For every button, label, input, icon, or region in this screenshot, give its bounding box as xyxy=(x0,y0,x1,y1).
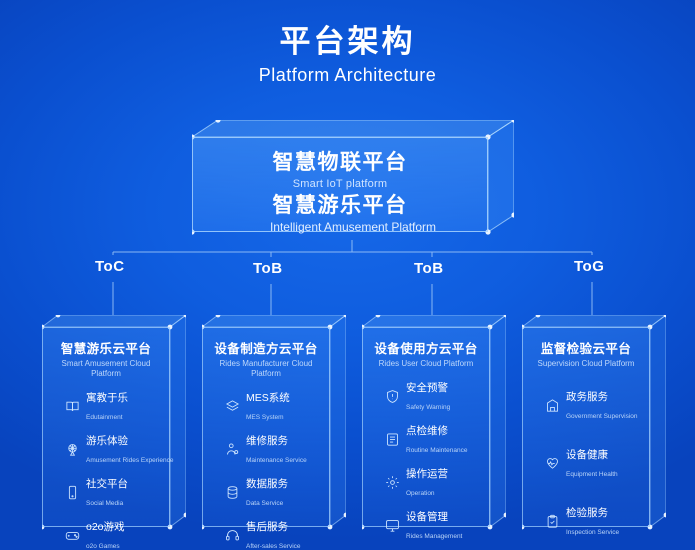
column-items-3: 安全预警 Safety Warning 点检维修 Routine Mainten… xyxy=(368,378,484,550)
branch-label-toc: ToC xyxy=(95,258,125,275)
list-item-text: 售后服务 After-sales Service xyxy=(246,517,301,550)
list-item-text: 寓教于乐 Edutainment xyxy=(86,388,128,424)
item-label-en: Safety Warning xyxy=(406,404,450,411)
list-item-text: o2o游戏 o2o Games xyxy=(86,517,125,550)
list-item-text: MES系统 MES System xyxy=(246,388,290,424)
column-title-en-2: Rides Manufacturer Cloud Platform xyxy=(208,359,324,379)
column-title-en-1: Smart Amusement Cloud Platform xyxy=(48,359,164,379)
item-label-en: Equipment Health xyxy=(566,471,618,478)
heart-pulse-icon xyxy=(544,455,561,472)
item-label-cn: 安全预警 xyxy=(406,382,448,394)
gamepad-icon xyxy=(64,527,81,544)
list-item-text: 政务服务 Government Supervision xyxy=(566,387,638,423)
column-content-2: 设备制造方云平台 Rides Manufacturer Cloud Platfo… xyxy=(202,327,330,527)
item-label-cn: 操作运营 xyxy=(406,468,448,480)
platform-box-text: 智慧物联平台 Smart IoT platform 智慧游乐平台 xyxy=(192,137,488,232)
list-item[interactable]: o2o游戏 o2o Games xyxy=(64,517,125,550)
item-label-en: After-sales Service xyxy=(246,543,301,550)
item-label-cn: 游乐体验 xyxy=(86,435,128,447)
person-gear-icon xyxy=(224,441,241,458)
branch-label-tob-2: ToB xyxy=(414,260,444,277)
list-item[interactable]: 操作运营 Operation xyxy=(384,464,448,500)
item-label-cn: 数据服务 xyxy=(246,478,288,490)
gear-icon xyxy=(384,474,401,491)
item-label-cn: 点检维修 xyxy=(406,425,448,437)
item-label-cn: 寓教于乐 xyxy=(86,392,128,404)
title-english: Platform Architecture xyxy=(0,62,695,88)
item-label-cn: 检验服务 xyxy=(566,507,608,519)
item-label-cn: MES系统 xyxy=(246,392,290,404)
list-item-text: 安全预警 Safety Warning xyxy=(406,378,450,414)
column-title-en-4: Supervision Cloud Platform xyxy=(528,359,644,369)
item-label-en: Data Service xyxy=(246,500,283,507)
mobile-icon xyxy=(64,484,81,501)
list-item-text: 社交平台 Social Media xyxy=(86,474,128,510)
database-icon xyxy=(224,484,241,501)
list-item[interactable]: 点检维修 Routine Maintenance xyxy=(384,421,467,457)
list-item[interactable]: 政务服务 Government Supervision xyxy=(544,387,638,423)
list-item-text: 维修服务 Maintenance Service xyxy=(246,431,307,467)
list-item[interactable]: 售后服务 After-sales Service xyxy=(224,517,301,550)
item-label-en: MES System xyxy=(246,414,284,421)
list-item-text: 设备健康 Equipment Health xyxy=(566,445,618,481)
item-label-cn: o2o游戏 xyxy=(86,521,125,533)
column-rides-user[interactable]: 设备使用方云平台 Rides User Cloud Platform 安全预警 … xyxy=(362,315,506,535)
clipboard-check-icon xyxy=(544,513,561,530)
platform-line1-cn: 智慧物联平台 xyxy=(273,150,408,176)
list-item-text: 数据服务 Data Service xyxy=(246,474,288,510)
item-label-en: Inspection Service xyxy=(566,529,619,536)
list-item[interactable]: 游乐体验 Amusement Rides Experience xyxy=(64,431,173,467)
column-content-4: 监督检验云平台 Supervision Cloud Platform 政务服务 … xyxy=(522,327,650,527)
list-item-text: 设备管理 Rides Management xyxy=(406,507,462,543)
item-label-en: Rides Management xyxy=(406,533,462,540)
item-label-en: Government Supervision xyxy=(566,413,638,420)
branch-label-tog: ToG xyxy=(574,258,604,275)
item-label-en: Amusement Rides Experience xyxy=(86,457,173,464)
list-item[interactable]: 检验服务 Inspection Service xyxy=(544,503,619,539)
layers-icon xyxy=(224,398,241,415)
list-item[interactable]: 设备健康 Equipment Health xyxy=(544,445,618,481)
headset-icon xyxy=(224,527,241,544)
column-title-cn-2: 设备制造方云平台 xyxy=(208,341,324,357)
ferris-wheel-icon xyxy=(64,441,81,458)
item-label-cn: 售后服务 xyxy=(246,521,288,533)
column-smart-amusement[interactable]: 智慧游乐云平台 Smart Amusement Cloud Platform 寓… xyxy=(42,315,186,535)
column-content-3: 设备使用方云平台 Rides User Cloud Platform 安全预警 … xyxy=(362,327,490,527)
platform-line1-en: Smart IoT platform xyxy=(293,176,387,192)
list-item[interactable]: 社交平台 Social Media xyxy=(64,474,128,510)
list-item[interactable]: 维修服务 Maintenance Service xyxy=(224,431,307,467)
list-item[interactable]: 设备管理 Rides Management xyxy=(384,507,462,543)
column-title-en-3: Rides User Cloud Platform xyxy=(368,359,484,369)
item-label-en: Edutainment xyxy=(86,414,123,421)
item-label-cn: 设备管理 xyxy=(406,511,448,523)
column-title-cn-3: 设备使用方云平台 xyxy=(368,341,484,357)
list-item[interactable]: 寓教于乐 Edutainment xyxy=(64,388,128,424)
item-label-cn: 维修服务 xyxy=(246,435,288,447)
item-label-en: o2o Games xyxy=(86,543,120,550)
list-item[interactable]: MES系统 MES System xyxy=(224,388,290,424)
branch-label-tob-1: ToB xyxy=(253,260,283,277)
item-label-cn: 社交平台 xyxy=(86,478,128,490)
title-chinese: 平台架构 xyxy=(0,22,695,62)
item-label-cn: 设备健康 xyxy=(566,449,608,461)
column-title-cn-1: 智慧游乐云平台 xyxy=(48,341,164,357)
shield-alert-icon xyxy=(384,388,401,405)
checklist-icon xyxy=(384,431,401,448)
platform-line2-cn: 智慧游乐平台 xyxy=(273,192,408,220)
column-content-1: 智慧游乐云平台 Smart Amusement Cloud Platform 寓… xyxy=(42,327,170,527)
building-icon xyxy=(544,397,561,414)
column-items-2: MES系统 MES System 维修服务 Maintenance Servic… xyxy=(208,388,324,550)
list-item[interactable]: 数据服务 Data Service xyxy=(224,474,288,510)
monitor-icon xyxy=(384,517,401,534)
list-item[interactable]: 安全预警 Safety Warning xyxy=(384,378,450,414)
book-icon xyxy=(64,398,81,415)
platform-line2-en: Intelligent Amusement Platform xyxy=(192,220,514,234)
column-items-1: 寓教于乐 Edutainment 游乐体验 Amusement Rides Ex… xyxy=(48,388,164,550)
column-rides-manufacturer[interactable]: 设备制造方云平台 Rides Manufacturer Cloud Platfo… xyxy=(202,315,346,535)
column-supervision[interactable]: 监督检验云平台 Supervision Cloud Platform 政务服务 … xyxy=(522,315,666,535)
page-title: 平台架构 Platform Architecture xyxy=(0,22,695,88)
item-label-en: Social Media xyxy=(86,500,123,507)
architecture-diagram: 平台架构 Platform Architecture xyxy=(0,0,695,550)
list-item-text: 操作运营 Operation xyxy=(406,464,448,500)
list-item-text: 游乐体验 Amusement Rides Experience xyxy=(86,431,173,467)
list-item-text: 点检维修 Routine Maintenance xyxy=(406,421,467,457)
column-items-4: 政务服务 Government Supervision 设备健康 Equipme… xyxy=(528,387,644,546)
item-label-en: Operation xyxy=(406,490,435,497)
list-item-text: 检验服务 Inspection Service xyxy=(566,503,619,539)
item-label-en: Routine Maintenance xyxy=(406,447,467,454)
column-title-cn-4: 监督检验云平台 xyxy=(528,341,644,357)
item-label-en: Maintenance Service xyxy=(246,457,307,464)
item-label-cn: 政务服务 xyxy=(566,391,608,403)
